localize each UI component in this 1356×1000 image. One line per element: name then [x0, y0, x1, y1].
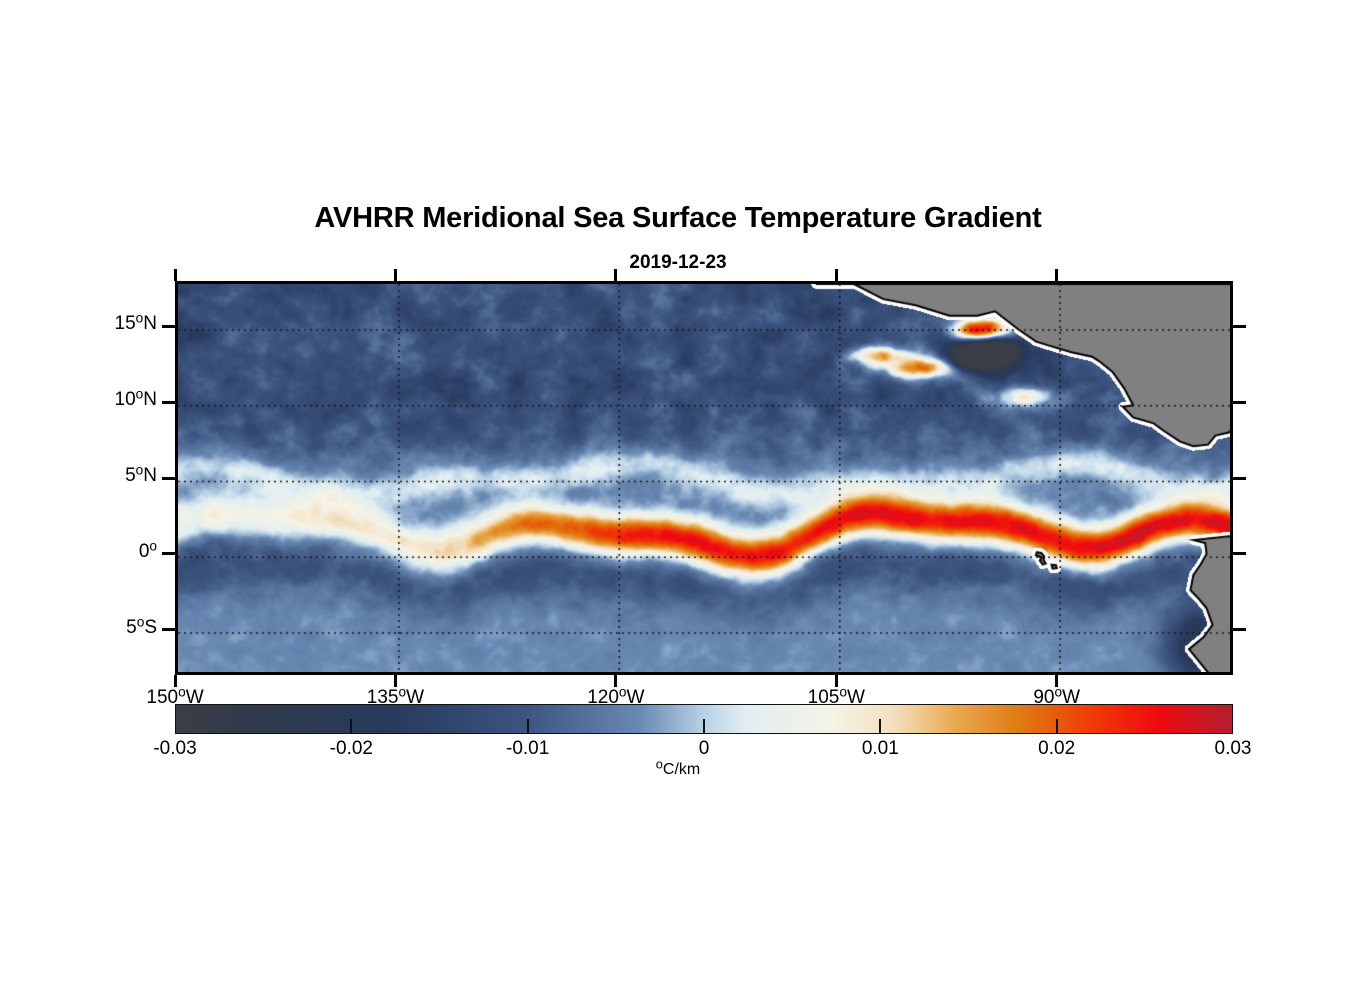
y-axis-tick — [1233, 628, 1246, 631]
y-axis-tick — [162, 477, 175, 480]
y-axis-label: 5oN — [17, 465, 157, 487]
x-axis-tick — [174, 269, 177, 281]
x-axis-tick — [1055, 269, 1058, 281]
x-axis-tick — [614, 269, 617, 281]
colorbar-tick-label: 0.03 — [1158, 738, 1308, 760]
chart-title: AVHRR Meridional Sea Surface Temperature… — [0, 202, 1356, 235]
x-axis-tick — [174, 675, 177, 687]
colorbar-tick-label: -0.03 — [100, 738, 250, 760]
y-axis-tick — [1233, 325, 1246, 328]
y-axis-label: 10oN — [17, 389, 157, 411]
x-axis-tick — [835, 675, 838, 687]
colorbar-tick — [1056, 719, 1058, 734]
figure-canvas: AVHRR Meridional Sea Surface Temperature… — [0, 0, 1356, 1000]
colorbar-tick — [879, 719, 881, 734]
colorbar-tick-label: -0.02 — [276, 738, 426, 760]
chart-subtitle: 2019-12-23 — [0, 252, 1356, 274]
y-axis-tick — [1233, 477, 1246, 480]
map-axes — [175, 281, 1233, 675]
colorbar-tick-label: 0.02 — [982, 738, 1132, 760]
y-axis-tick — [162, 628, 175, 631]
y-axis-tick — [162, 552, 175, 555]
x-axis-tick — [394, 675, 397, 687]
y-axis-label: 15oN — [17, 313, 157, 335]
x-axis-tick — [394, 269, 397, 281]
colorbar-tick — [703, 719, 705, 734]
y-axis-label: 5oS — [17, 617, 157, 639]
y-axis-tick — [1233, 552, 1246, 555]
y-axis-tick — [162, 325, 175, 328]
colorbar-tick-label: 0.01 — [805, 738, 955, 760]
sst-gradient-heatmap — [178, 284, 1233, 675]
y-axis-tick — [162, 401, 175, 404]
colorbar-unit-label: oC/km — [0, 761, 1356, 779]
colorbar-tick-label: 0 — [629, 738, 779, 760]
y-axis-label: 0o — [17, 541, 157, 563]
y-axis-tick — [1233, 401, 1246, 404]
colorbar-tick-label: -0.01 — [453, 738, 603, 760]
colorbar-tick — [350, 719, 352, 734]
x-axis-tick — [614, 675, 617, 687]
colorbar-tick — [527, 719, 529, 734]
x-axis-tick — [835, 269, 838, 281]
